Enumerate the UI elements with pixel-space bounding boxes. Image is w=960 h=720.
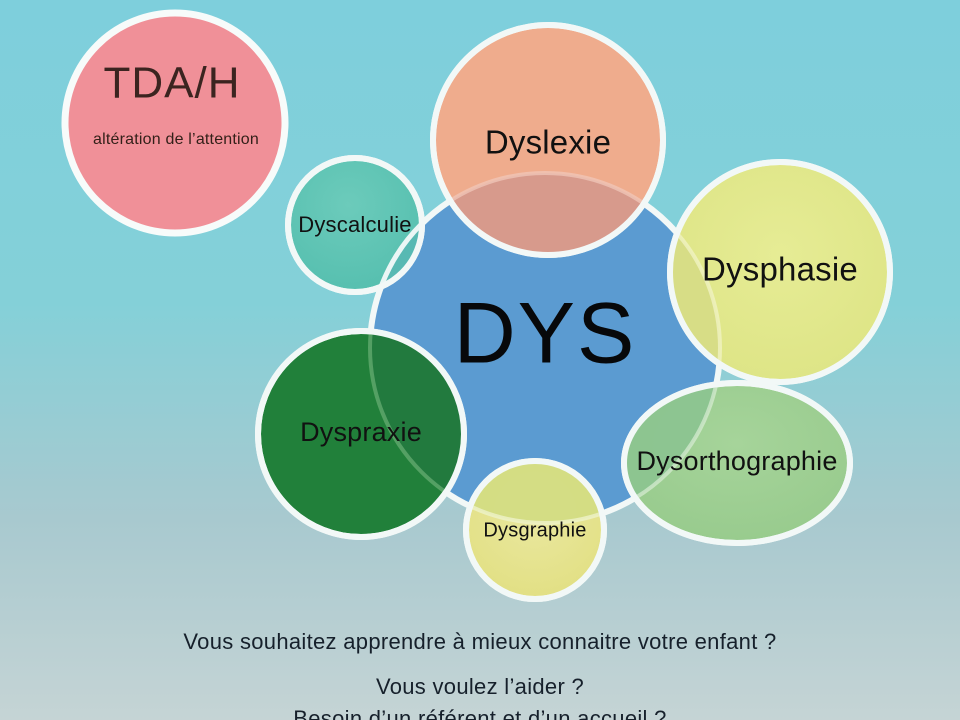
dys-bubble-diagram: Dyscalculie Dyspraxie Dyslexie	[0, 0, 960, 720]
bubble-dyscalculie-label: Dyscalculie	[298, 212, 411, 237]
bubble-dysphasie-label: Dysphasie	[702, 251, 858, 288]
footer-message-block: Vous souhaitez apprendre à mieux connait…	[0, 630, 960, 720]
bubble-tdah-label: TDA/H	[104, 59, 241, 108]
footer-line-1: Vous souhaitez apprendre à mieux connait…	[0, 630, 960, 653]
bubble-tdah-shape	[65, 13, 285, 233]
bubble-center-label: DYS	[454, 286, 637, 382]
bubble-dyspraxie-label: Dyspraxie	[300, 417, 422, 447]
bubble-dyslexie-label: Dyslexie	[485, 124, 611, 161]
footer-line-3: Besoin d’un référent et d’un accueil ?	[0, 707, 960, 720]
bubble-tdah-sublabel: altération de l’attention	[93, 131, 259, 148]
bubble-dysgraphie-label: Dysgraphie	[483, 519, 586, 541]
bubble-dysorthographie-label: Dysorthographie	[636, 446, 837, 476]
bubble-tdah[interactable]: TDA/H altération de l’attention	[65, 13, 285, 233]
footer-line-2: Vous voulez l’aider ?	[0, 675, 960, 698]
dys-infographic: Dyscalculie Dyspraxie Dyslexie	[0, 0, 960, 720]
